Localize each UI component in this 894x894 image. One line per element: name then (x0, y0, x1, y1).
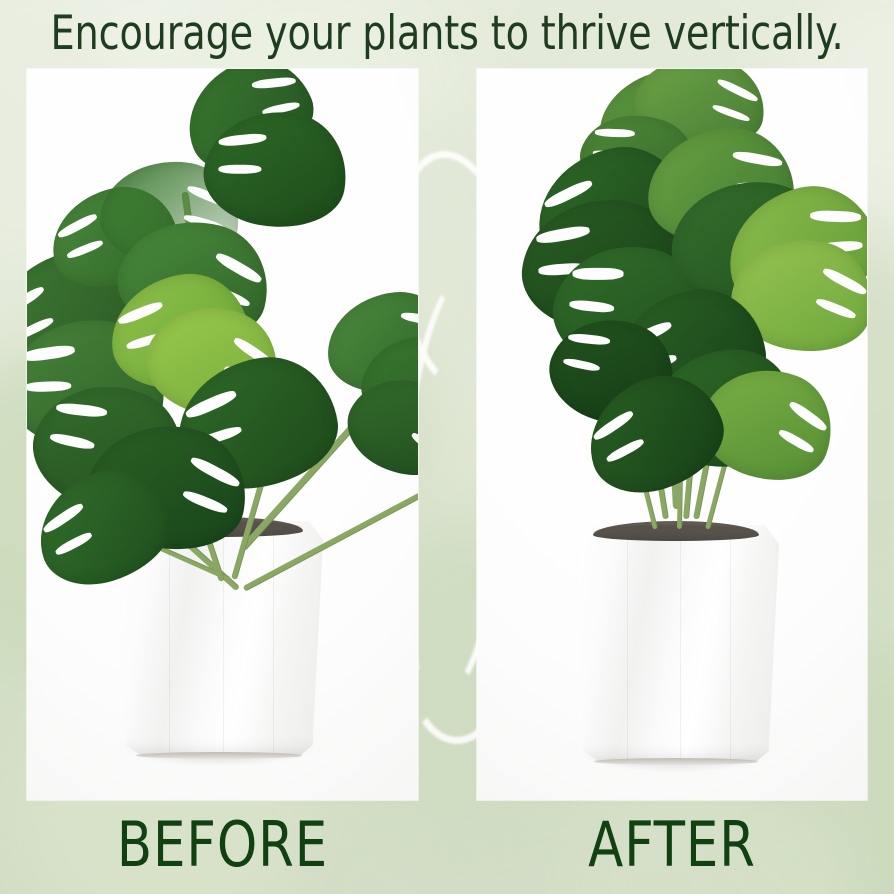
before-photo-panel (27, 69, 418, 800)
after-pot (573, 525, 779, 763)
before-plant-photo (27, 69, 418, 800)
after-plant-photo (477, 69, 867, 800)
comparison-image: Encourage your plants to thrive vertical… (0, 0, 894, 894)
before-caption: BEFORE (43, 806, 403, 884)
after-caption: AFTER (493, 806, 852, 884)
after-soil (593, 521, 759, 541)
after-photo-panel (477, 69, 867, 800)
headline-text: Encourage your plants to thrive vertical… (42, 2, 851, 64)
